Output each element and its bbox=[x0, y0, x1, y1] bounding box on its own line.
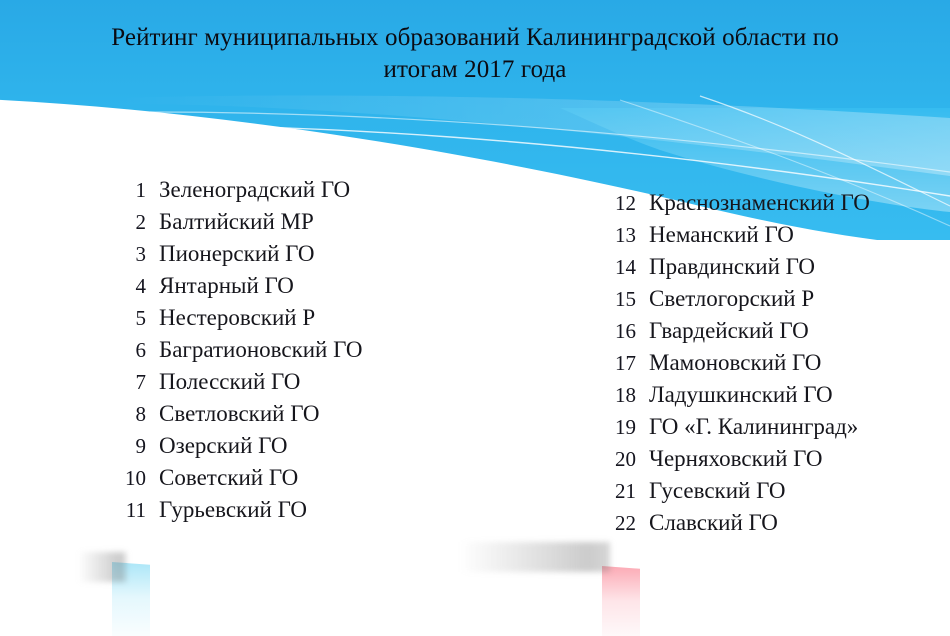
list-item-label: Ладушкинский ГО bbox=[649, 379, 833, 411]
list-item-label: Гвардейский ГО bbox=[649, 315, 809, 347]
list-item: 17Мамоновский ГО bbox=[594, 347, 870, 379]
list-item: 21Гусевский ГО bbox=[594, 475, 870, 507]
list-item: 6Багратионовский ГО bbox=[104, 334, 362, 366]
list-item-rank: 17 bbox=[594, 347, 636, 379]
list-item-rank: 5 bbox=[104, 302, 146, 334]
list-item-rank: 12 bbox=[594, 187, 636, 219]
list-item-rank: 3 bbox=[104, 238, 146, 270]
list-item: 5Нестеровский Р bbox=[104, 302, 362, 334]
list-item-label: Озерский ГО bbox=[159, 430, 288, 462]
list-item-rank: 21 bbox=[594, 475, 636, 507]
list-item: 12Краснознаменский ГО bbox=[594, 187, 870, 219]
list-item-rank: 14 bbox=[594, 251, 636, 283]
list-item-rank: 19 bbox=[594, 411, 636, 443]
list-item: 7Полесский ГО bbox=[104, 366, 362, 398]
list-item: 16Гвардейский ГО bbox=[594, 315, 870, 347]
list-item-label: Черняховский ГО bbox=[649, 443, 822, 475]
list-item-rank: 16 bbox=[594, 315, 636, 347]
list-item: 4Янтарный ГО bbox=[104, 270, 362, 302]
list-item-rank: 4 bbox=[104, 270, 146, 302]
list-item-label: ГО «Г. Калининград» bbox=[649, 411, 858, 443]
list-item: 20Черняховский ГО bbox=[594, 443, 870, 475]
list-item-label: Багратионовский ГО bbox=[159, 334, 362, 366]
list-item-label: Полесский ГО bbox=[159, 366, 300, 398]
list-item-rank: 10 bbox=[104, 462, 146, 494]
list-item-label: Гурьевский ГО bbox=[159, 494, 307, 526]
slide: Рейтинг муниципальных образований Калини… bbox=[0, 0, 950, 636]
title-line-2: итогам 2017 года bbox=[0, 54, 950, 86]
list-item-rank: 15 bbox=[594, 283, 636, 315]
list-item: 10Советский ГО bbox=[104, 462, 362, 494]
list-item: 9Озерский ГО bbox=[104, 430, 362, 462]
list-item: 11Гурьевский ГО bbox=[104, 494, 362, 526]
list-item: 19ГО «Г. Калининград» bbox=[594, 411, 870, 443]
list-item-label: Неманский ГО bbox=[649, 219, 794, 251]
list-item-label: Краснознаменский ГО bbox=[649, 187, 870, 219]
list-item-rank: 6 bbox=[104, 334, 146, 366]
list-item-rank: 20 bbox=[594, 443, 636, 475]
list-item-label: Балтийский МР bbox=[159, 206, 314, 238]
slide-title: Рейтинг муниципальных образований Калини… bbox=[0, 22, 950, 86]
bar-shadow-right bbox=[460, 542, 610, 572]
list-item-label: Зеленоградский ГО bbox=[159, 174, 350, 206]
list-item-rank: 18 bbox=[594, 379, 636, 411]
list-item-label: Пионерский ГО bbox=[159, 238, 315, 270]
list-item-label: Советский ГО bbox=[159, 462, 298, 494]
ranking-list-left: 1Зеленоградский ГО2Балтийский МР3Пионерс… bbox=[104, 174, 362, 526]
list-item-rank: 13 bbox=[594, 219, 636, 251]
list-item: 22Славский ГО bbox=[594, 507, 870, 539]
list-item-rank: 7 bbox=[104, 366, 146, 398]
list-item-rank: 2 bbox=[104, 206, 146, 238]
list-item: 2Балтийский МР bbox=[104, 206, 362, 238]
list-item-rank: 1 bbox=[104, 174, 146, 206]
list-item-label: Светловский ГО bbox=[159, 398, 320, 430]
list-item: 14Правдинский ГО bbox=[594, 251, 870, 283]
list-item-label: Янтарный ГО bbox=[159, 270, 294, 302]
list-item: 1Зеленоградский ГО bbox=[104, 174, 362, 206]
list-item: 8Светловский ГО bbox=[104, 398, 362, 430]
list-item: 3Пионерский ГО bbox=[104, 238, 362, 270]
list-item-label: Славский ГО bbox=[649, 507, 778, 539]
list-item-label: Нестеровский Р bbox=[159, 302, 315, 334]
list-item-rank: 22 bbox=[594, 507, 636, 539]
ranking-list-right: 12Краснознаменский ГО13Неманский ГО14Пра… bbox=[594, 187, 870, 539]
list-item-label: Светлогорский Р bbox=[649, 283, 814, 315]
list-item-rank: 11 bbox=[104, 494, 146, 526]
bar-reflection-right bbox=[602, 566, 640, 636]
list-item: 15Светлогорский Р bbox=[594, 283, 870, 315]
list-item-label: Гусевский ГО bbox=[649, 475, 785, 507]
list-item-rank: 8 bbox=[104, 398, 146, 430]
list-item-label: Правдинский ГО bbox=[649, 251, 815, 283]
list-item: 18Ладушкинский ГО bbox=[594, 379, 870, 411]
title-line-1: Рейтинг муниципальных образований Калини… bbox=[0, 22, 950, 54]
list-item-rank: 9 bbox=[104, 430, 146, 462]
list-item: 13Неманский ГО bbox=[594, 219, 870, 251]
list-item-label: Мамоновский ГО bbox=[649, 347, 821, 379]
